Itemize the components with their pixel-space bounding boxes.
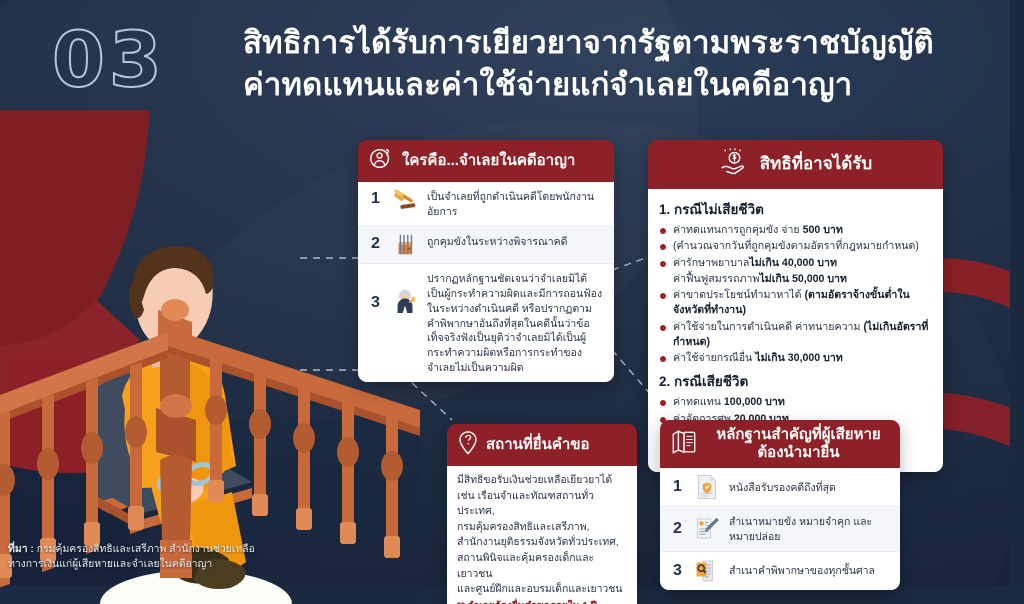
source-label: ที่มา : <box>8 544 34 555</box>
item-text: ค่าใช้จ่ายในการดำเนินคดี ค่าทนายความ <box>673 321 863 333</box>
item-text: (คำนวณจากวันที่ถูกคุมขังตามอัตราที่กฎหมา… <box>673 240 919 252</box>
list-item: ค่าขาดประโยชน์ทำมาหาได้ (ตามอัตราจ้างขั้… <box>659 288 932 319</box>
right-edge-band <box>1010 0 1024 604</box>
warrant-icon <box>693 516 721 542</box>
page-title-line1: สิทธิการได้รับการเยียวยาจากรัฐตามพระราชบ… <box>243 22 1003 64</box>
card-rights-header: สิทธิที่อาจได้รับ <box>648 140 943 189</box>
item-bold: 500 บาท <box>803 224 843 236</box>
card-evidence-title: หลักฐานสำคัญที่ผู้เสียหาย ต้องนำมายื่น <box>707 426 890 462</box>
list-item: 3 สำเนาคำพิพากษาของทุกชั้นศาล <box>660 551 900 590</box>
rights-section-1-list: ค่าทดแทนการถูกคุมขัง จ่าย 500 บาท (คำนวณ… <box>659 223 932 366</box>
place-line: มีสิทธิขอรับเงินช่วยเหลือเยียวยาได้ <box>457 473 627 489</box>
card-place-title: สถานที่ยื่นคำขอ <box>486 436 590 454</box>
place-line: สำนักงานยุติธรรมจังหวัดทั่วประเทศ, <box>457 535 627 551</box>
card-defendant-body: 1 เป็นจำเลยที่ถูกดำเนินคดีโดยพนักงานอัยก… <box>358 182 614 382</box>
item-text: เป็นจำเลยที่ถูกดำเนินคดีโดยพนักงานอัยการ <box>427 188 604 220</box>
item-text: ปรากฏหลักฐานชัดเจนว่าจำเลยมิได้เป็นผู้กร… <box>427 270 604 376</box>
list-item: 1 หนังสือรับรองคดีถึงที่สุด <box>660 468 900 506</box>
card-place-header: สถานที่ยื่นคำขอ <box>447 424 637 466</box>
item-bold: ไม่เกิน 50,000 บาท <box>759 273 847 285</box>
card-evidence-body: 1 หนังสือรับรองคดีถึงที่สุด 2 <box>660 468 900 590</box>
place-line: และศูนย์ฝึกและอบรมเด็กและเยาวชน <box>457 582 627 598</box>
rights-section-title: 1. กรณีไม่เสียชีวิต <box>659 198 932 220</box>
item-text: ค่ารักษาพยาบาล <box>673 257 749 269</box>
list-item: 2 ถูกคุมขังในระหว่างพิจารณาคดี <box>358 226 614 263</box>
location-question-icon <box>457 430 479 460</box>
card-rights-title: สิทธิที่อาจได้รับ <box>760 154 872 174</box>
item-text: ค่าขาดประโยชน์ทำมาหาได้ <box>673 289 805 301</box>
gavel-icon <box>391 188 419 212</box>
item-index: 1 <box>670 476 685 498</box>
item-index: 3 <box>368 270 383 314</box>
item-index: 2 <box>368 233 383 255</box>
list-item: 1 เป็นจำเลยที่ถูกดำเนินคดีโดยพนักงานอัยก… <box>358 182 614 226</box>
card-defendant-header: ใครคือ...จำเลยในคดีอาญา <box>358 140 614 182</box>
source-line1: ที่มา : กรมคุ้มครองสิทธิและเสรีภาพ สำนัก… <box>8 543 338 558</box>
list-item: ค่ารักษาพยาบาลไม่เกิน 40,000 บาท <box>659 256 932 271</box>
item-text: สำเนาคำพิพากษาของทุกชั้นศาล <box>729 562 875 579</box>
list-item: ค่าฟื้นฟูสมรรถภาพไม่เกิน 50,000 บาท <box>659 272 932 287</box>
item-text: สำเนาหมายขัง หมายจำคุก และหมายปล่อย <box>729 513 890 545</box>
source-line2: ทางการเงินแก่ผู้เสียหายและจำเลยในคดีอาญา <box>8 558 338 573</box>
place-line: เช่น เรือนจำและทัณฑสถานทั่วประเทศ, <box>457 489 627 520</box>
source-text1: กรมคุ้มครองสิทธิและเสรีภาพ สำนักงานช่วยเ… <box>34 544 255 555</box>
list-item: 3 ปรากฏหลักฐานชัดเจนว่าจำเลยมิได้เป็นผู้… <box>358 263 614 382</box>
list-item: (คำนวณจากวันที่ถูกคุมขังตามอัตราที่กฎหมา… <box>659 239 932 254</box>
item-index: 2 <box>670 518 685 540</box>
item-bold: ไม่เกิน 30,000 บาท <box>755 352 843 364</box>
judgement-search-icon <box>693 558 721 584</box>
prison-cell-icon <box>391 233 419 257</box>
card-evidence-header: หลักฐานสำคัญที่ผู้เสียหาย ต้องนำมายื่น <box>660 420 900 468</box>
item-index: 3 <box>670 560 685 582</box>
certificate-icon <box>693 474 721 500</box>
card-evidence-title-line2: ต้องนำมายื่น <box>707 444 890 462</box>
hand-coin-icon <box>719 147 749 182</box>
list-item: ค่าทดแทน 100,000 บาท <box>659 395 932 410</box>
card-defendant-title: ใครคือ...จำเลยในคดีอาญา <box>402 152 575 170</box>
card-defendant: ใครคือ...จำเลยในคดีอาญา 1 เป็นจำเลยที่ถู… <box>358 140 614 382</box>
place-line: กรมคุ้มครองสิทธิและเสรีภาพ, <box>457 520 627 536</box>
section-number: 03 <box>52 22 166 98</box>
item-bold: ไม่เกิน 40,000 บาท <box>749 257 837 269</box>
person-question-icon <box>370 147 393 175</box>
page-title-line2: ค่าทดแทนและค่าใช้จ่ายแก่จำเลยในคดีอาญา <box>243 64 1003 106</box>
list-item: 2 สำเนาหมายขัง หมายจำคุก และหมายปล่อย <box>660 506 900 551</box>
list-item: ค่าทดแทนการถูกคุมขัง จ่าย 500 บาท <box>659 223 932 238</box>
place-note: ** จำเลยต้องยื่นคำขอภายใน 1 ปี นับแต่วัน… <box>457 600 627 604</box>
documents-icon <box>670 428 698 461</box>
defendant-in-courtroom-illustration <box>0 110 420 604</box>
item-text: ค่าใช้จ่ายกรณีอื่น <box>673 352 755 364</box>
note-line: ** จำเลยต้องยื่นคำขอภายใน 1 ปี <box>457 600 627 604</box>
judge-icon <box>391 270 419 314</box>
list-item: ค่าใช้จ่ายในการดำเนินคดี ค่าทนายความ (ไม… <box>659 320 932 351</box>
item-index: 1 <box>368 188 383 210</box>
card-evidence: หลักฐานสำคัญที่ผู้เสียหาย ต้องนำมายื่น 1 <box>660 420 900 590</box>
item-text: ค่าทดแทน <box>673 396 724 408</box>
item-text: ค่าฟื้นฟูสมรรถภาพ <box>673 273 759 285</box>
rights-section-title: 2. กรณีเสียชีวิต <box>659 370 932 392</box>
card-place: สถานที่ยื่นคำขอ มีสิทธิขอรับเงินช่วยเหลื… <box>447 424 637 604</box>
page-title: สิทธิการได้รับการเยียวยาจากรัฐตามพระราชบ… <box>243 22 1003 106</box>
list-item: ค่าใช้จ่ายกรณีอื่น ไม่เกิน 30,000 บาท <box>659 351 932 366</box>
source-citation: ที่มา : กรมคุ้มครองสิทธิและเสรีภาพ สำนัก… <box>8 543 338 573</box>
place-line: สถานพินิจและคุ้มครองเด็กและเยาวชน <box>457 551 627 582</box>
card-evidence-title-line1: หลักฐานสำคัญที่ผู้เสียหาย <box>707 426 890 444</box>
infographic-canvas: 03 สิทธิการได้รับการเยียวยาจากรัฐตามพระร… <box>0 0 1024 604</box>
item-text: ค่าทดแทนการถูกคุมขัง จ่าย <box>673 224 803 236</box>
place-body-text: มีสิทธิขอรับเงินช่วยเหลือเยียวยาได้ เช่น… <box>457 473 627 598</box>
card-place-body: มีสิทธิขอรับเงินช่วยเหลือเยียวยาได้ เช่น… <box>447 466 637 604</box>
item-text: หนังสือรับรองคดีถึงที่สุด <box>729 479 836 496</box>
item-bold: 100,000 บาท <box>724 396 785 408</box>
item-text: ถูกคุมขังในระหว่างพิจารณาคดี <box>427 233 567 250</box>
